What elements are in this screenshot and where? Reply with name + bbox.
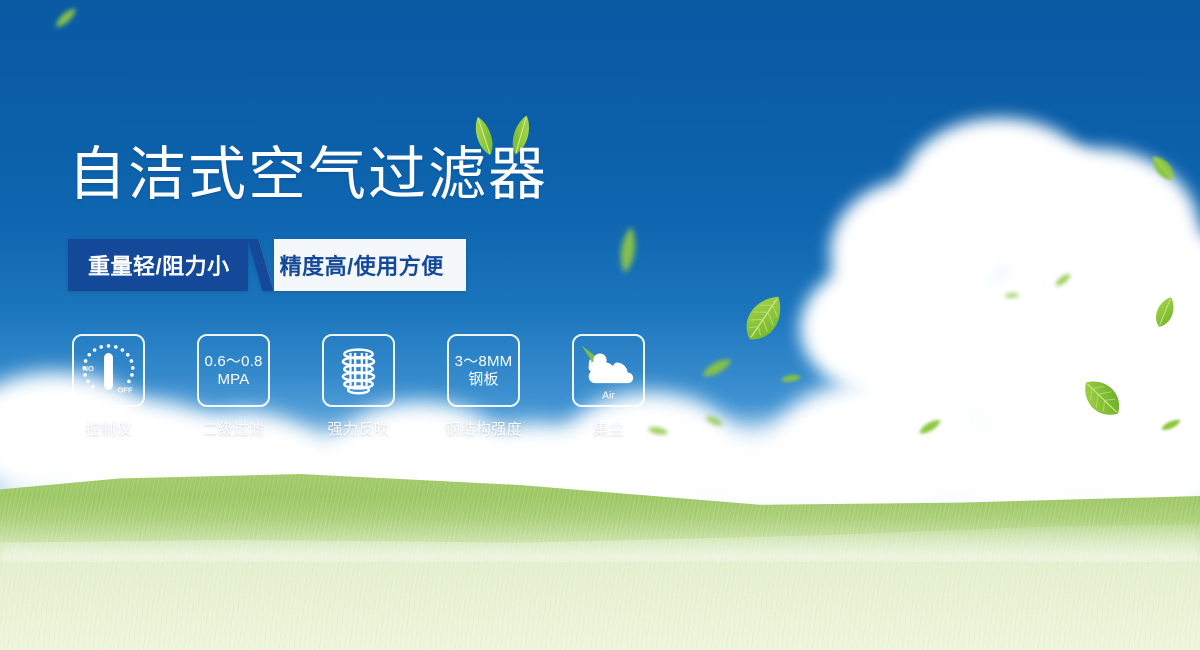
feature-item-backflush[interactable]: 强力反吹 <box>322 334 395 439</box>
feature-label: 强力反吹 <box>327 418 389 439</box>
feature-item-secondary-filter[interactable]: 0.6～0.8 MPA 二级过滤 <box>197 334 270 439</box>
feature-label: 集尘 <box>593 418 624 439</box>
banner-content: 自洁式空气过滤器 重量轻/阻力小 精度高/使用方便 <box>0 0 1200 650</box>
feature-item-controller[interactable]: NO OFF 控制仪 <box>72 334 145 439</box>
subtitle-left: 重量轻/阻力小 <box>68 239 248 291</box>
feature-label: 二级过滤 <box>202 418 264 439</box>
filter-stack-icon <box>324 334 393 407</box>
steel-plate-text: 3～8MM 钢板 <box>455 353 513 388</box>
air-label: Air <box>602 390 615 401</box>
product-banner: 自洁式空气过滤器 重量轻/阻力小 精度高/使用方便 <box>0 0 1200 650</box>
feature-label: 控制仪 <box>85 418 132 439</box>
feature-item-steel-strength[interactable]: 3～8MM 钢板 钢结构强度 <box>447 334 520 439</box>
subtitle-bar: 重量轻/阻力小 精度高/使用方便 <box>68 239 466 291</box>
subtitle-divider <box>248 239 274 291</box>
feature-icon-box: NO OFF <box>72 334 145 407</box>
gauge-icon: NO OFF <box>74 334 143 407</box>
gauge-off-label: OFF <box>117 386 132 395</box>
feature-icon-box <box>322 334 395 407</box>
feature-item-dust-collection[interactable]: Air 集尘 <box>572 334 645 439</box>
steel-material: 钢板 <box>455 371 513 389</box>
pressure-unit: MPA <box>204 371 262 389</box>
cloud-air-icon: Air <box>574 334 643 407</box>
feature-icon-box: Air <box>572 334 645 407</box>
pressure-text: 0.6～0.8 MPA <box>204 353 262 388</box>
feature-list: NO OFF 控制仪 0.6～0.8 MPA 二级过滤 <box>72 334 645 439</box>
feature-icon-box: 0.6～0.8 MPA <box>197 334 270 407</box>
feature-label: 钢结构强度 <box>445 418 523 439</box>
gauge-no-label: NO <box>83 364 94 373</box>
pressure-value: 0.6～0.8 <box>204 353 262 371</box>
page-title: 自洁式空气过滤器 <box>68 146 548 204</box>
subtitle-right: 精度高/使用方便 <box>274 239 466 291</box>
steel-thickness: 3～8MM <box>455 353 513 371</box>
feature-icon-box: 3～8MM 钢板 <box>447 334 520 407</box>
